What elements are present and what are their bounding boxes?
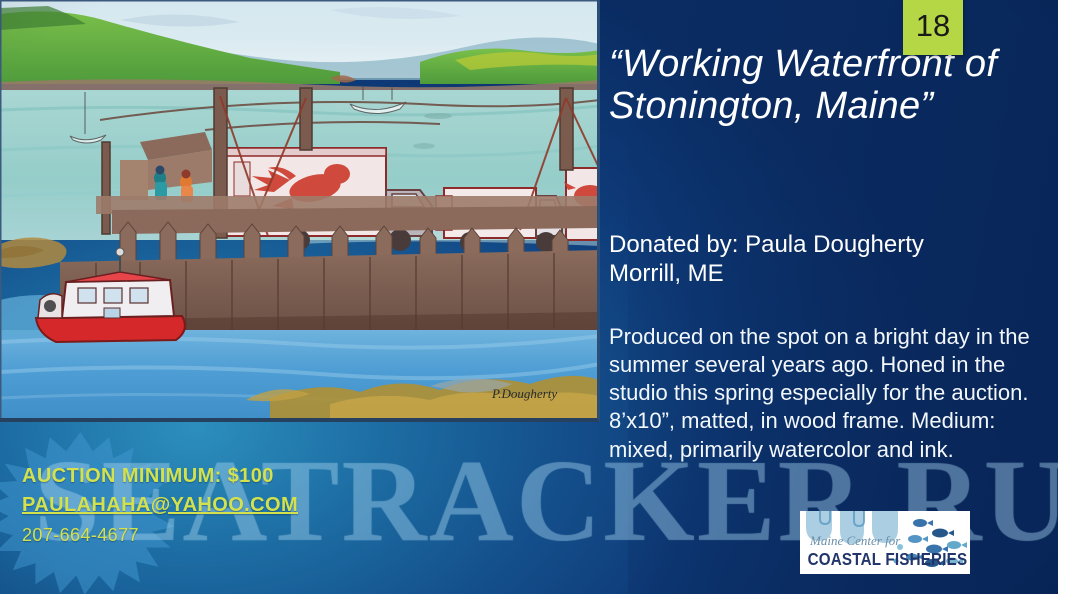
lot-number-value: 18 [916,8,950,44]
lot-number-badge: 18 [903,0,963,55]
logo-line2: COASTAL FISHERIES [808,549,968,569]
contact-email-link[interactable]: PAULAHAHA@YAHOO.COM [22,491,298,520]
right-margin-strip [1058,0,1080,594]
artwork-description: Produced on the spot on a bright day in … [609,323,1034,464]
donor-info: Donated by: Paula Dougherty Morrill, ME [609,230,1029,289]
auction-minimum: AUCTION MINIMUM: $100 [22,462,422,491]
auction-slide: SEATRACKER.RU [0,0,1080,594]
page-title: “Working Waterfront of Stonington, Maine… [609,44,1039,128]
auction-info-block: AUCTION MINIMUM: $100 PAULAHAHA@YAHOO.CO… [22,462,422,551]
contact-phone: 207-664-4677 [22,520,422,551]
logo-line1: Maine Center for [809,533,901,548]
coastal-fisheries-logo-graphic: Maine Center for COASTAL FISHERIES [800,511,970,574]
sponsor-logo: Maine Center for COASTAL FISHERIES [800,511,970,574]
